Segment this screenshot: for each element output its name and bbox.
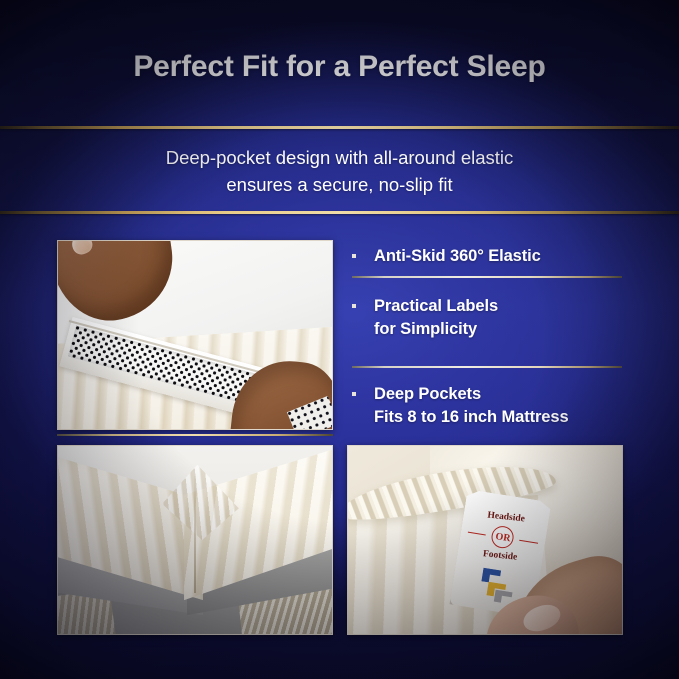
photo-orientation-label: Headside OR Footside xyxy=(347,445,623,635)
feature-2-line-2: for Simplicity xyxy=(374,318,623,341)
photo-gold-divider xyxy=(57,434,333,436)
page-subtitle: Deep-pocket design with all-around elast… xyxy=(0,144,679,198)
bullet-icon xyxy=(352,392,356,396)
gold-divider-top xyxy=(0,126,679,129)
bullet-icon xyxy=(352,304,356,308)
feature-item-practical-labels: Practical Labels for Simplicity xyxy=(347,295,623,341)
tag-rule-left xyxy=(467,531,486,535)
feature-item-anti-skid: Anti-Skid 360° Elastic xyxy=(347,245,623,268)
photo-fitted-sheet-corner xyxy=(57,445,333,635)
feature-divider-1 xyxy=(352,276,622,278)
feature-3-line-1: Deep Pockets xyxy=(374,383,623,406)
sheet-corner-fold xyxy=(194,476,196,593)
tag-headside-text: Headside xyxy=(463,508,549,527)
feature-1-line-1: Anti-Skid 360° Elastic xyxy=(374,245,623,268)
subtitle-line-1: Deep-pocket design with all-around elast… xyxy=(0,144,679,171)
logo-block-blue xyxy=(481,568,501,584)
tag-footside-text: Footside xyxy=(457,546,543,565)
subtitle-line-2: ensures a secure, no-slip fit xyxy=(0,171,679,198)
feature-item-deep-pockets: Deep Pockets Fits 8 to 16 inch Mattress xyxy=(347,383,623,429)
feature-divider-2 xyxy=(352,366,622,368)
tag-rule-right xyxy=(519,540,538,544)
gold-divider-bottom xyxy=(0,211,679,214)
tag-or-badge: OR xyxy=(490,525,515,550)
fingernail-top xyxy=(68,240,94,257)
feature-3-line-2: Fits 8 to 16 inch Mattress xyxy=(374,406,623,429)
infographic-canvas: Perfect Fit for a Perfect Sleep Deep-poc… xyxy=(0,0,679,679)
bullet-icon xyxy=(352,254,356,258)
photo-anti-skid-elastic xyxy=(57,240,333,430)
feature-2-line-1: Practical Labels xyxy=(374,295,623,318)
page-title: Perfect Fit for a Perfect Sleep xyxy=(0,50,679,84)
